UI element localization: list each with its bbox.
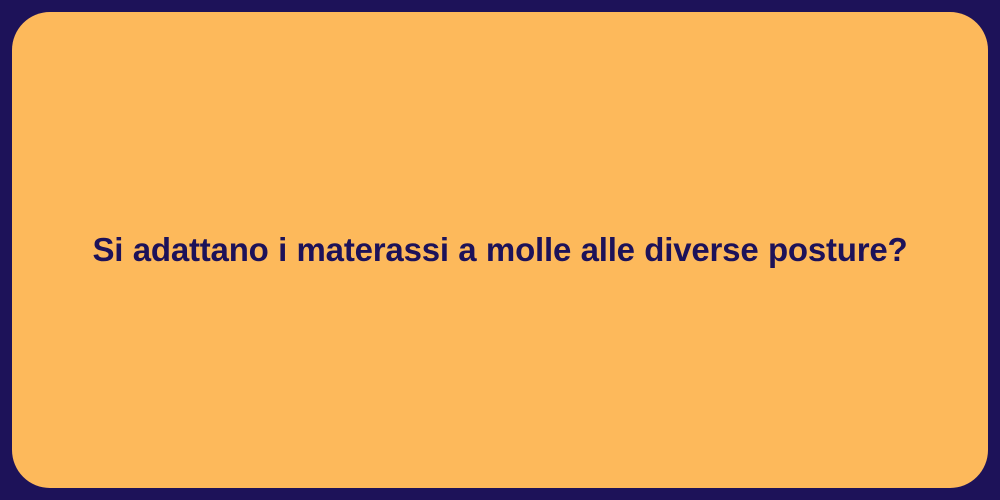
- page-title: Si adattano i materassi a molle alle div…: [92, 229, 907, 272]
- banner-frame: Si adattano i materassi a molle alle div…: [0, 0, 1000, 500]
- question-card-panel: Si adattano i materassi a molle alle div…: [12, 12, 988, 488]
